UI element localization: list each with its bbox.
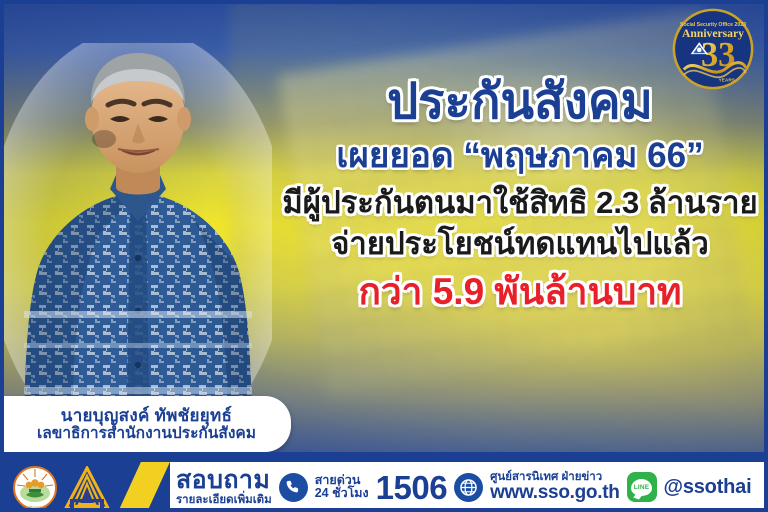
sso-triangle-logo-icon <box>64 466 110 510</box>
footer-website-url[interactable]: www.sso.go.th <box>490 483 619 503</box>
social-security-announcement-poster: นายบุญสงค์ ทัพชัยยุทธ์ เลขาธิการสำนักงาน… <box>0 0 768 512</box>
headline-block: ประกันสังคม เผยยอด “พฤษภาคม 66” มีผู้ประ… <box>278 78 762 311</box>
anniversary-badge: Social Security Office 2023 Anniversary … <box>670 6 756 92</box>
ministry-of-labour-emblem-icon: กระทรวงแรงงาน <box>12 465 58 511</box>
footer-divider <box>0 452 768 462</box>
footer-hotline-labels: สายด่วน 24 ชั่วโมง <box>315 474 369 500</box>
footer-contact-row: สอบถาม รายละเอียดเพิ่มเติม สายด่วน 24 ชั… <box>176 462 768 512</box>
headline-line-2: เผยยอด “พฤษภาคม 66” <box>278 134 762 182</box>
headline-line-5: กว่า 5.9 พันล้านบาท <box>278 265 762 311</box>
footer-ask-title: สอบถาม <box>176 468 272 493</box>
headline-line-4: จ่ายประโยชน์ทดแทนไปแล้ว <box>278 223 762 265</box>
footer-ask-subtitle: รายละเอียดเพิ่มเติม <box>176 495 272 507</box>
footer-logos: กระทรวงแรงงาน <box>0 462 120 512</box>
footer-ask-block: สอบถาม รายละเอียดเพิ่มเติม <box>176 468 272 507</box>
nameplate-name: นายบุญสงค์ ทัพชัยยุทธ์ <box>61 406 232 425</box>
line-badge-text: LINE <box>634 484 650 491</box>
anniversary-years-text: YEARS <box>719 78 735 84</box>
footer-bar: กระทรวงแรงงาน สอบถาม <box>0 462 768 512</box>
footer-accent-stripe <box>118 462 170 512</box>
footer-website-block[interactable]: ศูนย์สารนิเทศ ฝ่ายข่าว www.sso.go.th <box>490 471 619 503</box>
footer-hotline-number[interactable]: 1506 <box>376 471 447 504</box>
nameplate: นายบุญสงค์ ทัพชัยยุทธ์ เลขาธิการสำนักงาน… <box>0 396 291 452</box>
headline-line-3: มีผู้ประกันตนมาใช้สิทธิ 2.3 ล้านราย <box>278 182 762 224</box>
phone-icon[interactable] <box>279 473 308 502</box>
svg-text:กระทรวงแรงงาน: กระทรวงแรงงาน <box>23 505 47 509</box>
footer-hotline-label-2: 24 ชั่วโมง <box>315 487 369 500</box>
globe-icon[interactable] <box>454 473 483 502</box>
line-icon[interactable]: LINE <box>627 472 657 502</box>
footer-line-handle[interactable]: @ssothai <box>664 476 752 499</box>
nameplate-position: เลขาธิการสำนักงานประกันสังคม <box>37 425 256 442</box>
